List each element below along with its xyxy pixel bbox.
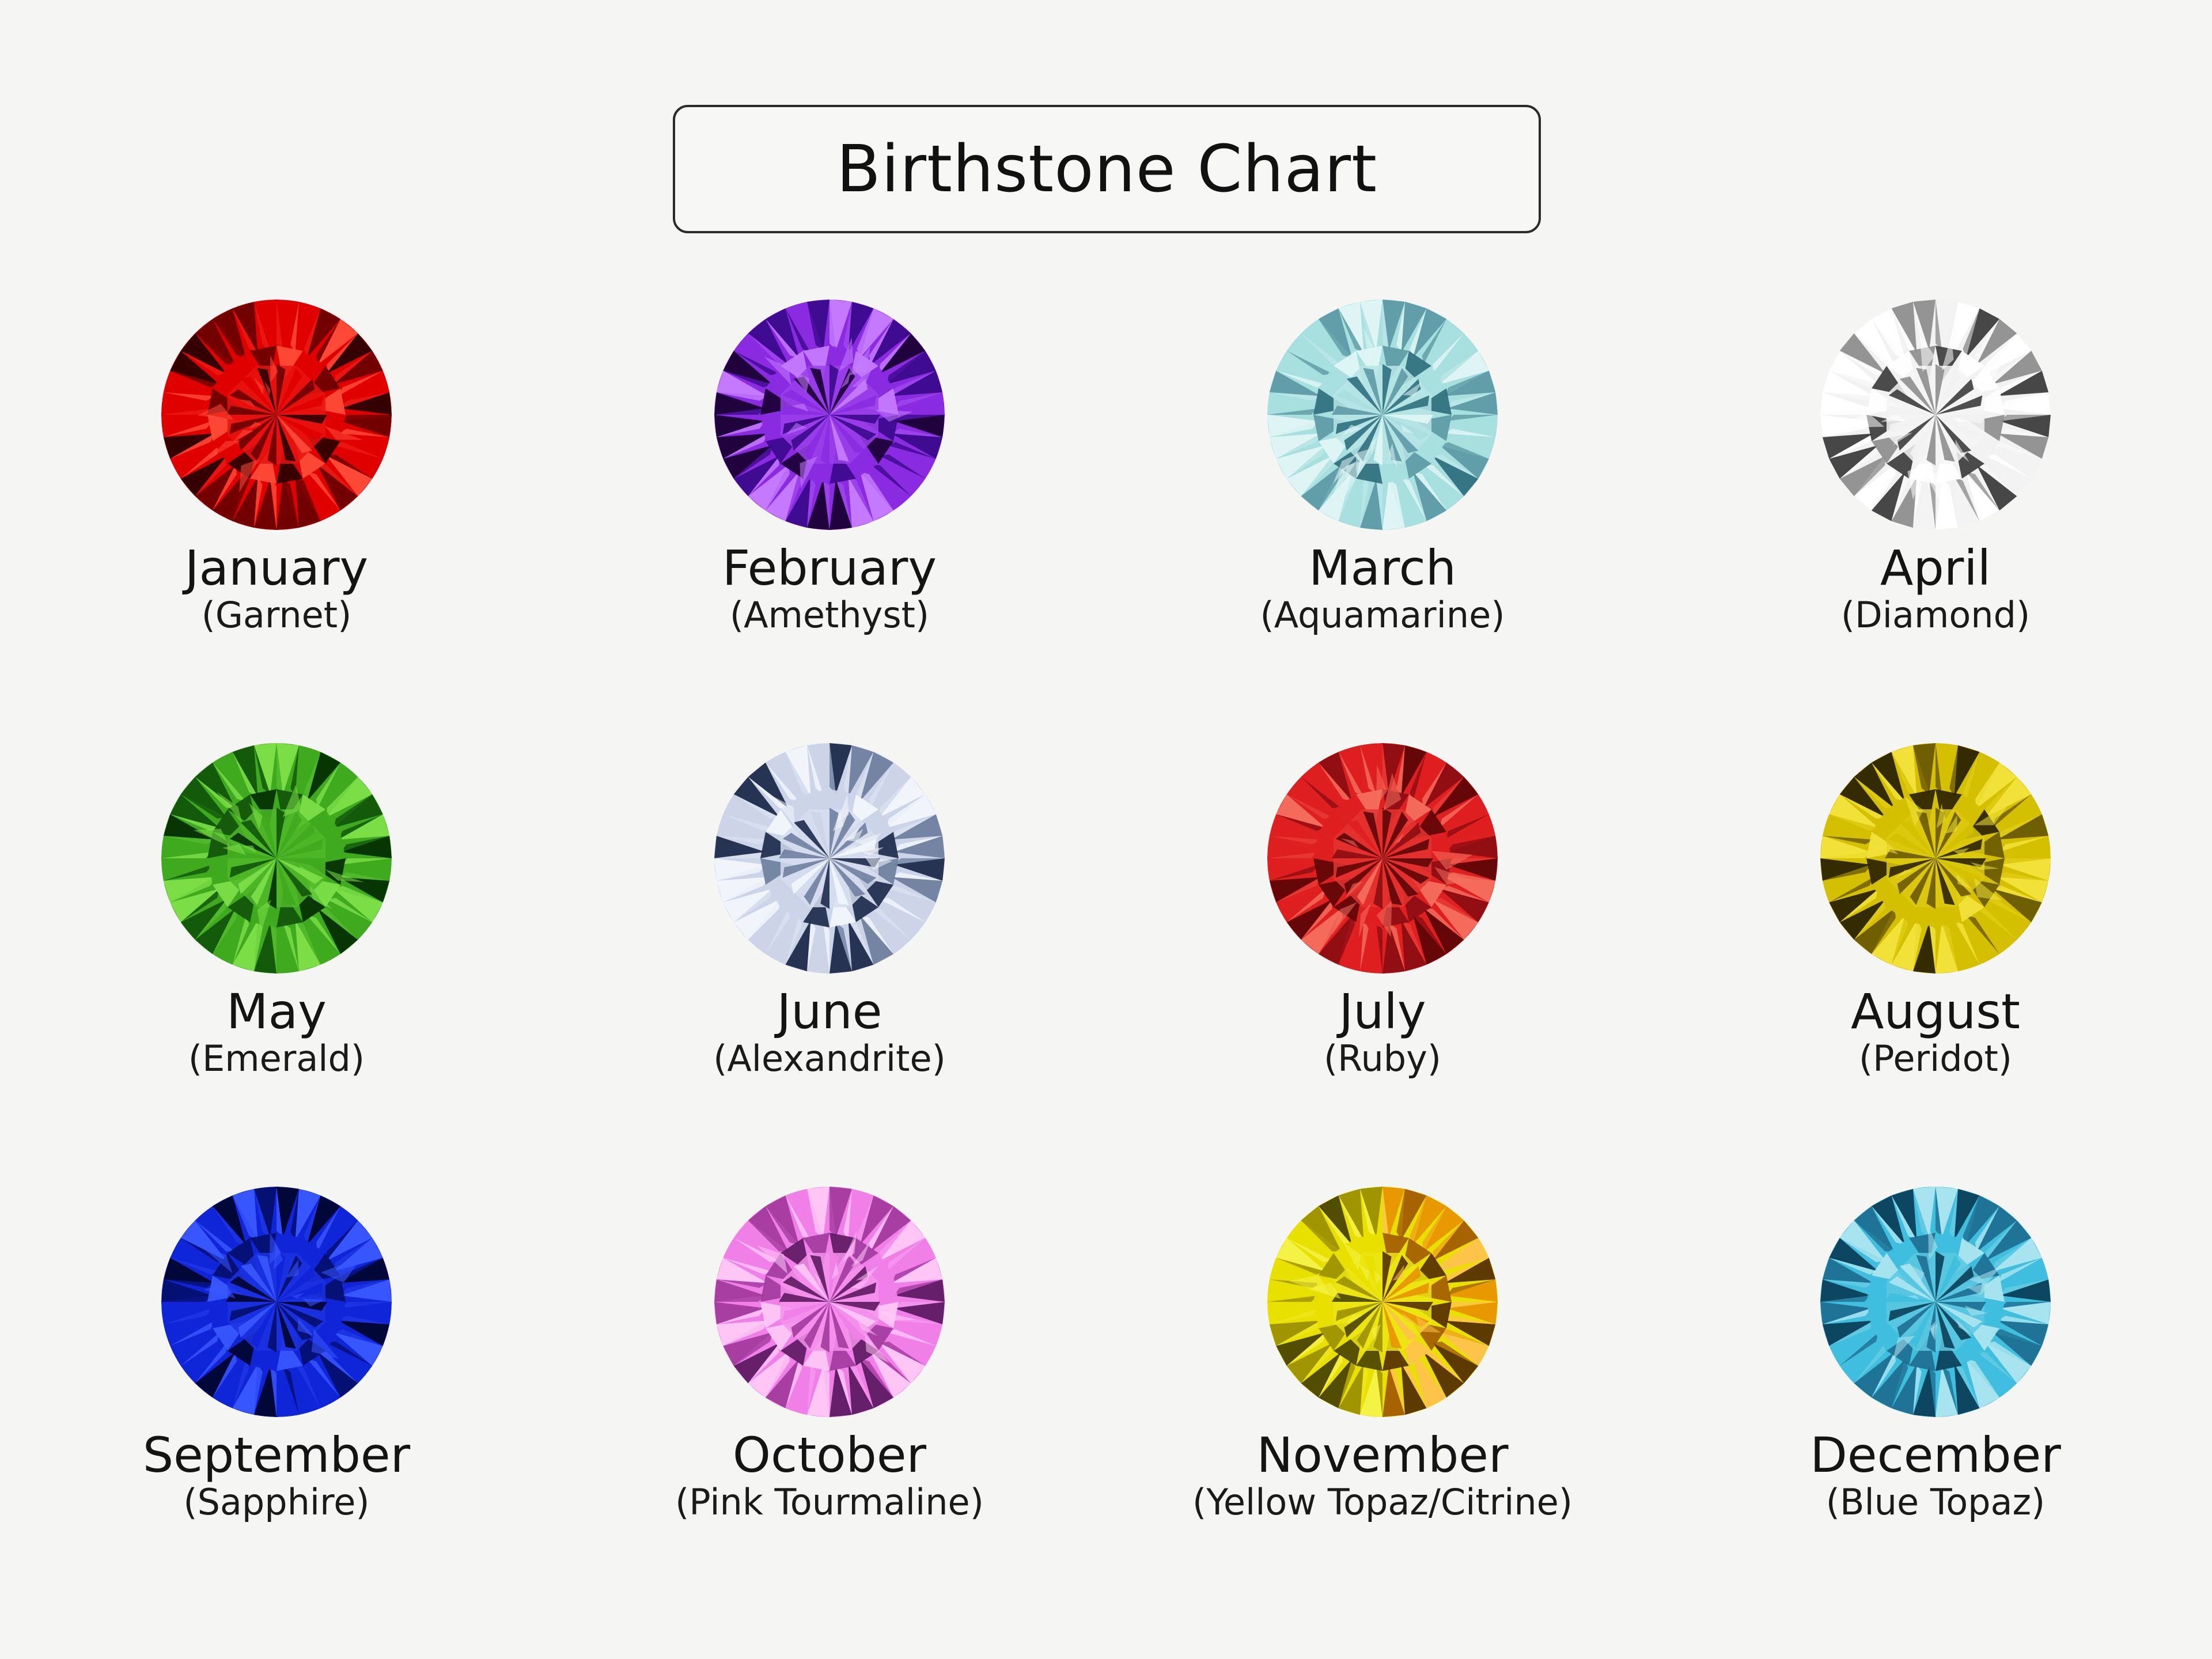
month-label: November	[1257, 1431, 1509, 1480]
round-brilliant-gem-icon	[1267, 743, 1498, 974]
birthstone-cell: July(Ruby)	[1106, 743, 1659, 1187]
round-brilliant-gem-icon	[714, 743, 945, 974]
birthstone-cell: April(Diamond)	[1659, 300, 2212, 743]
birthstone-cell: May(Emerald)	[0, 743, 553, 1187]
month-label: May	[226, 987, 327, 1037]
round-brilliant-gem-icon	[714, 1187, 945, 1417]
stone-label: (Yellow Topaz/Citrine)	[1192, 1484, 1573, 1520]
round-brilliant-gem-icon	[1267, 1187, 1498, 1417]
month-label: June	[777, 987, 882, 1037]
month-label: April	[1880, 544, 1991, 593]
stone-label: (Sapphire)	[183, 1484, 369, 1520]
round-brilliant-gem-icon	[1820, 1187, 2051, 1417]
birthstone-cell: February(Amethyst)	[553, 300, 1106, 743]
round-brilliant-gem-icon	[714, 300, 945, 530]
month-label: September	[143, 1431, 410, 1480]
month-label: March	[1309, 544, 1456, 593]
stone-label: (Pink Tourmaline)	[675, 1484, 984, 1520]
stone-label: (Garnet)	[202, 597, 352, 633]
round-brilliant-gem-icon	[161, 1187, 392, 1417]
birthstone-cell: June(Alexandrite)	[553, 743, 1106, 1187]
birthstone-cell: September(Sapphire)	[0, 1187, 553, 1630]
stone-label: (Aquamarine)	[1260, 597, 1505, 633]
stone-label: (Amethyst)	[730, 597, 929, 633]
stone-label: (Alexandrite)	[713, 1040, 946, 1077]
stone-label: (Blue Topaz)	[1826, 1484, 2045, 1520]
round-brilliant-gem-icon	[1820, 300, 2051, 530]
page-title-box: Birthstone Chart	[673, 105, 1541, 233]
round-brilliant-gem-icon	[1267, 300, 1498, 530]
stone-label: (Emerald)	[188, 1040, 365, 1077]
month-label: February	[722, 544, 937, 593]
birthstone-cell: March(Aquamarine)	[1106, 300, 1659, 743]
birthstone-cell: October(Pink Tourmaline)	[553, 1187, 1106, 1630]
page-title: Birthstone Chart	[836, 137, 1377, 202]
birthstone-cell: December(Blue Topaz)	[1659, 1187, 2212, 1630]
month-label: December	[1810, 1431, 2061, 1480]
month-label: July	[1339, 987, 1426, 1037]
stone-label: (Ruby)	[1324, 1040, 1441, 1077]
round-brilliant-gem-icon	[1820, 743, 2051, 974]
month-label: January	[185, 544, 368, 593]
birthstone-cell: November(Yellow Topaz/Citrine)	[1106, 1187, 1659, 1630]
month-label: October	[733, 1431, 926, 1480]
round-brilliant-gem-icon	[161, 300, 392, 530]
stone-label: (Peridot)	[1859, 1040, 2012, 1077]
birthstone-grid: January(Garnet)February(Amethyst)March(A…	[0, 300, 2212, 1630]
month-label: August	[1851, 987, 2020, 1037]
birthstone-cell: January(Garnet)	[0, 300, 553, 743]
stone-label: (Diamond)	[1841, 597, 2030, 633]
round-brilliant-gem-icon	[161, 743, 392, 974]
birthstone-cell: August(Peridot)	[1659, 743, 2212, 1187]
